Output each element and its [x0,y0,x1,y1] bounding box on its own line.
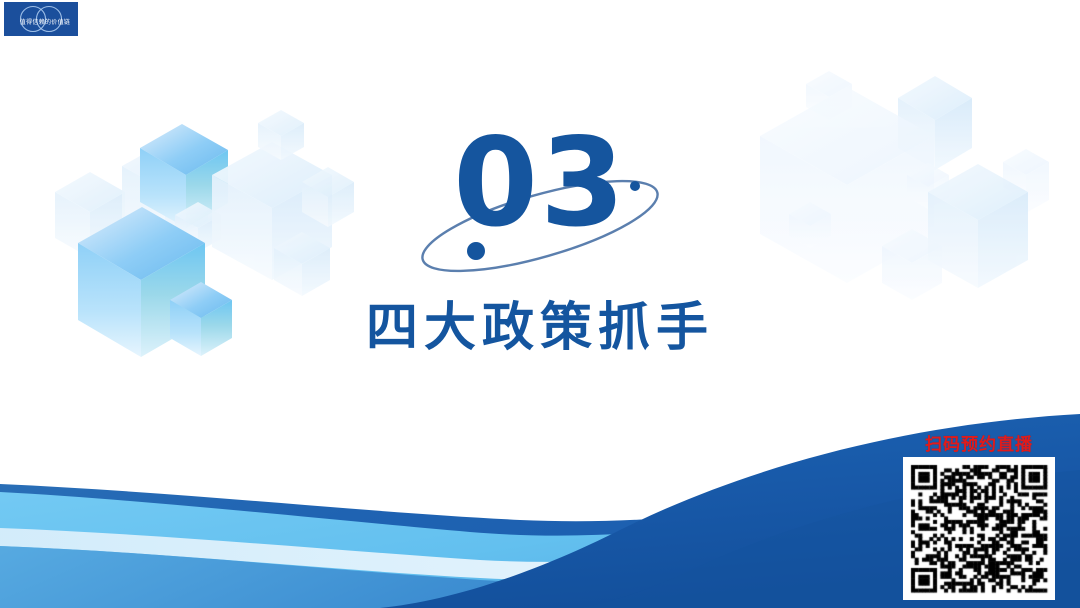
qr-code-frame[interactable] [903,457,1055,600]
qr-caption: 扫码预约直播 [904,430,1054,455]
qr-layer: 扫码预约直播 [0,0,1080,608]
slide-root: 03 四大政策抓手 值得信赖的价值链 扫码预约直播 [0,0,1080,608]
qr-code-image[interactable] [903,457,1055,600]
